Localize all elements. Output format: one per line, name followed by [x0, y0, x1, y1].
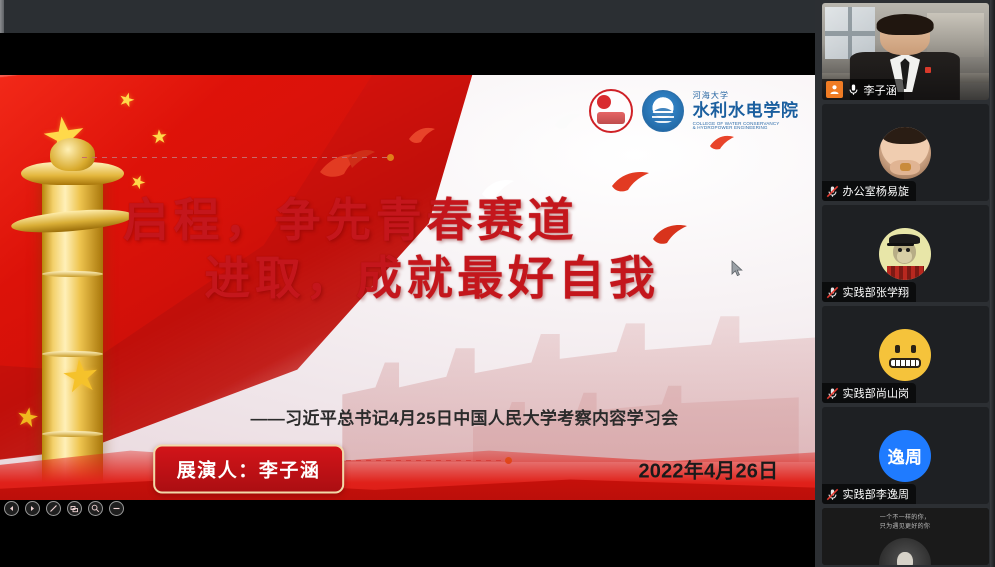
avatar-caption-line-1: 一个不一样的你， — [880, 514, 930, 523]
next-slide-button[interactable] — [25, 501, 40, 516]
next-slide-icon — [29, 505, 36, 512]
avatar — [879, 127, 931, 179]
avatar-shirt — [887, 266, 923, 280]
presenter-badge: 展演人：李子涵 — [153, 444, 345, 493]
avatar-caption: 一个不一样的你， 只为遇见更好的你 — [880, 514, 930, 532]
previous-slide-icon — [8, 505, 15, 512]
slide-logos: 河海大学 水利水电学院 COLLEGE OF WATER CONSERVANCY… — [589, 89, 799, 133]
participant-avatar-area: 一个不一样的你， 只为遇见更好的你 — [822, 508, 989, 565]
logo-english-line2: & HYDROPOWER ENGINEERING — [693, 126, 799, 131]
avatar-caption-line-2: 只为遇见更好的你 — [880, 523, 930, 532]
avatar-mouth — [889, 358, 920, 368]
meeting-window: ★ ★ ★ ★ ★ — [0, 0, 995, 567]
hohai-wordmark: 河海大学 水利水电学院 COLLEGE OF WATER CONSERVANCY… — [693, 92, 799, 131]
more-options-button[interactable] — [109, 501, 124, 516]
presenter-control-bar[interactable] — [4, 501, 124, 516]
avatar: 逸周 — [879, 430, 931, 482]
participant-name: 实践部张学翔 — [843, 284, 910, 300]
hohai-seal-icon — [642, 90, 684, 132]
avatar — [879, 228, 931, 280]
participant-tile[interactable]: 实践部张学翔 — [822, 205, 989, 302]
zoom-tool-button[interactable] — [88, 501, 103, 516]
dove-icon — [408, 124, 438, 146]
slide-title-line-2: 进取，成就最好自我 — [0, 253, 815, 305]
letterbox-top — [0, 33, 815, 75]
participant-tile[interactable]: 一个不一样的你， 只为遇见更好的你 — [822, 508, 989, 565]
dove-icon — [554, 111, 582, 131]
grid-icon — [70, 505, 79, 513]
shared-screen-area[interactable]: ★ ★ ★ ★ ★ — [0, 0, 815, 567]
logo-university-name: 河海大学 — [693, 92, 799, 100]
decor-dotted-line — [82, 157, 392, 158]
slide-date: 2022年4月26日 — [638, 454, 778, 483]
shared-window-topbar — [0, 0, 815, 33]
zoom-icon — [91, 504, 100, 513]
logo-college-name: 水利水电学院 — [693, 102, 799, 119]
slide-navigator-button[interactable] — [67, 501, 82, 516]
dove-icon — [318, 146, 376, 184]
microphone-muted-icon — [826, 286, 839, 299]
microphone-muted-icon — [826, 185, 839, 198]
avatar-eye-right — [911, 345, 916, 353]
slide-subtitle: ——习近平总书记4月25日中国人民大学考察内容学习会 — [0, 404, 815, 429]
window-right-edge — [990, 0, 995, 567]
previous-slide-button[interactable] — [4, 501, 19, 516]
person-glyph — [829, 84, 840, 95]
avatar — [879, 329, 931, 381]
avatar-snack — [900, 163, 911, 171]
host-icon — [826, 81, 843, 98]
avatar-eye-left — [895, 345, 900, 353]
participant-tile[interactable]: 实践部尚山岗 — [822, 306, 989, 403]
participant-name: 办公室杨易旋 — [843, 183, 910, 199]
lapel-pin — [925, 67, 931, 73]
microphone-muted-icon — [826, 387, 839, 400]
participant-tile[interactable]: 逸周 实践部李逸周 — [822, 407, 989, 504]
participant-tile[interactable]: 办公室杨易旋 — [822, 104, 989, 201]
person-hair — [877, 14, 934, 35]
microphone-muted-icon — [826, 488, 839, 501]
participant-nameplate: 实践部李逸周 — [822, 484, 917, 504]
slide-title-line-1: 启程，争先青春赛道 — [0, 195, 815, 247]
party-emblem-icon — [589, 89, 633, 133]
dove-icon — [611, 168, 651, 194]
slide-title-block: 启程，争先青春赛道 进取，成就最好自我 — [0, 195, 815, 304]
avatar-snout — [897, 250, 913, 262]
participants-sidebar[interactable]: 李子涵 办公室杨易旋 — [815, 0, 995, 567]
participant-nameplate: 实践部尚山岗 — [822, 383, 917, 403]
window-edge-accent — [0, 0, 4, 33]
dove-icon — [709, 133, 735, 151]
avatar-hair — [881, 127, 929, 145]
participant-nameplate: 办公室杨易旋 — [822, 181, 917, 201]
pen-tool-button[interactable] — [46, 501, 61, 516]
participant-name: 实践部李逸周 — [843, 486, 910, 502]
participant-nameplate: 实践部张学翔 — [822, 282, 917, 302]
participant-tile[interactable]: 李子涵 — [822, 3, 989, 100]
avatar — [879, 538, 931, 565]
participant-name: 李子涵 — [864, 82, 897, 98]
huabiao-lion — [50, 138, 96, 171]
more-icon — [112, 507, 121, 510]
star-icon: ★ — [59, 353, 103, 401]
star-icon: ★ — [150, 128, 168, 148]
pen-icon — [49, 504, 58, 513]
avatar-cap-brim — [887, 243, 914, 246]
participant-nameplate: 李子涵 — [822, 79, 904, 100]
participant-name: 实践部尚山岗 — [843, 385, 910, 401]
microphone-on-icon — [847, 83, 860, 96]
mouse-cursor — [731, 260, 743, 277]
presentation-slide[interactable]: ★ ★ ★ ★ ★ — [0, 75, 815, 520]
